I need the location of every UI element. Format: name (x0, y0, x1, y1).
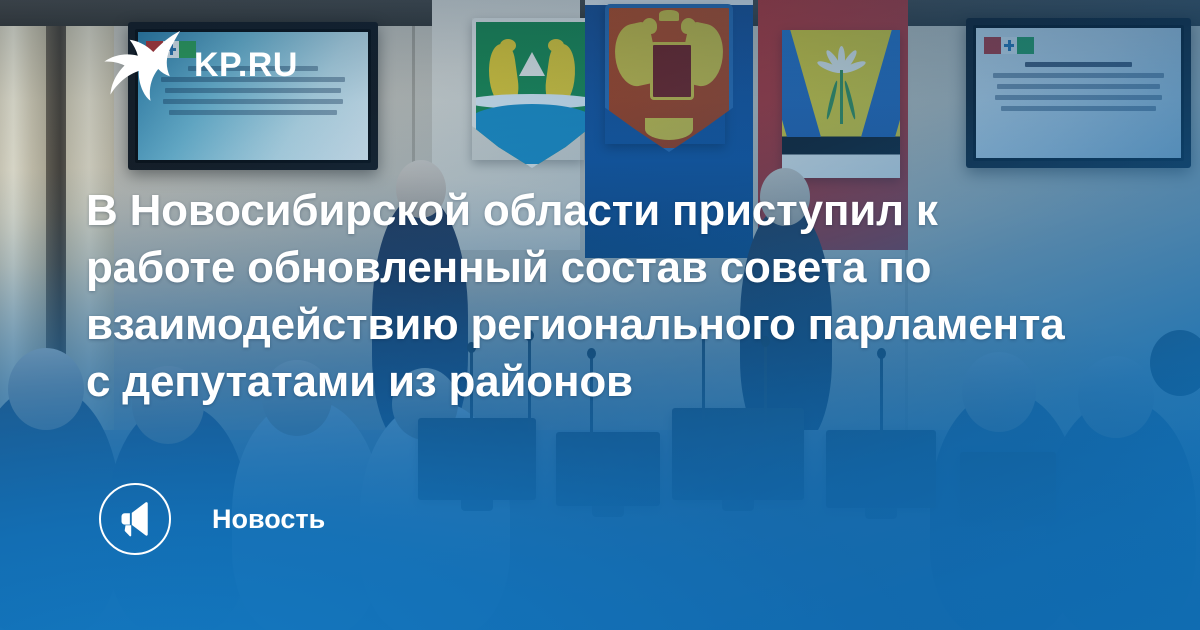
megaphone-icon (116, 500, 154, 538)
page-title: В Новосибирской области приступил к рабо… (86, 182, 1096, 410)
badge-circle (99, 483, 171, 555)
brand-wordmark: KP.RU (194, 48, 298, 82)
social-share-card: KP.RU В Новосибирской области приступил … (0, 0, 1200, 630)
swallow-bird-icon (104, 29, 182, 101)
badge-label: Новость (212, 506, 325, 533)
status-badge: Новость (99, 483, 325, 555)
card-content: KP.RU В Новосибирской области приступил … (0, 0, 1200, 630)
brand-logo[interactable]: KP.RU (104, 34, 298, 96)
